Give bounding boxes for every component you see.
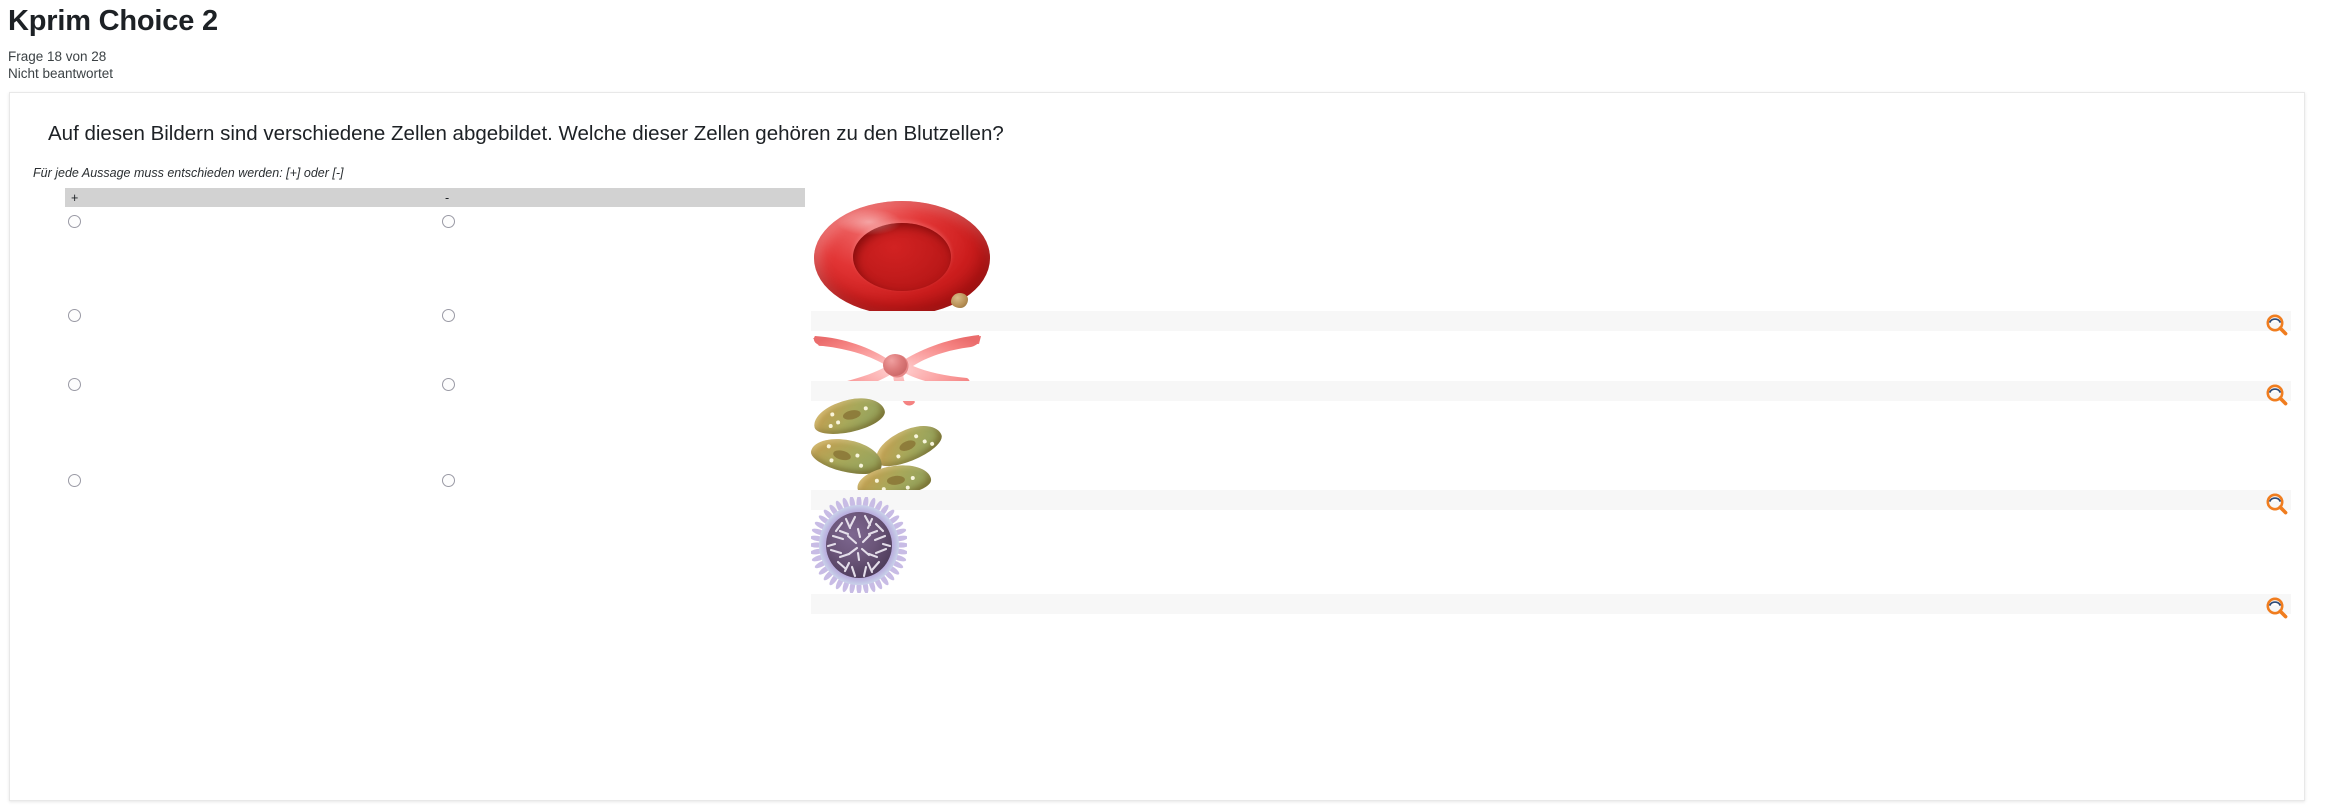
granulocyte-cell	[810, 393, 887, 439]
granule-dot	[830, 412, 835, 417]
granule-dot	[914, 434, 919, 439]
question-card: Auf diesen Bildern sind verschiedene Zel…	[9, 92, 2305, 801]
granule-dot	[911, 476, 915, 480]
granule-dot	[855, 453, 860, 458]
media-column	[811, 188, 2291, 600]
page-title: Kprim Choice 2	[8, 0, 1208, 38]
answer-grid-rows	[65, 207, 805, 562]
answer-grid: + -	[65, 188, 805, 562]
question-text: Auf diesen Bildern sind verschiedene Zel…	[48, 121, 1004, 147]
question-page: Kprim Choice 2 Frage 18 von 28 Nicht bea…	[0, 0, 2335, 812]
table-row	[65, 301, 805, 370]
granule-dot	[828, 424, 833, 429]
radio-row-1-minus[interactable]	[442, 215, 455, 228]
media-item-thrombocyte	[811, 324, 2291, 394]
answer-grid-header: + -	[65, 188, 805, 207]
lymphocyte-image	[811, 497, 907, 593]
question-instruction: Für jede Aussage muss entschieden werden…	[33, 166, 343, 180]
radio-row-3-plus[interactable]	[68, 378, 81, 391]
radio-row-4-plus[interactable]	[68, 474, 81, 487]
media-item-lymphocyte	[811, 490, 2291, 600]
granulocyte-nucleus	[832, 449, 852, 462]
magnifier-icon[interactable]	[2265, 596, 2289, 620]
radio-row-1-plus[interactable]	[68, 215, 81, 228]
question-progress: Frage 18 von 28	[8, 48, 1208, 65]
granule-dot	[836, 420, 841, 425]
granule-dot	[875, 479, 879, 483]
erythrocyte-highlight	[837, 209, 901, 235]
column-header-minus: -	[445, 190, 449, 206]
granule-dot	[930, 441, 935, 446]
table-row	[65, 370, 805, 466]
media-item-erythrocyte	[811, 188, 2291, 324]
erythrocyte-image	[811, 197, 993, 319]
column-header-plus: +	[71, 190, 78, 206]
cell-fragment	[951, 293, 968, 308]
granule-dot	[826, 444, 831, 449]
thrombocyte-nucleus	[883, 354, 907, 376]
question-meta: Frage 18 von 28 Nicht beantwortet	[8, 48, 1208, 82]
table-row	[65, 466, 805, 562]
granulocyte-nucleus	[887, 475, 906, 486]
radio-row-3-minus[interactable]	[442, 378, 455, 391]
radio-row-4-minus[interactable]	[442, 474, 455, 487]
granule-dot	[896, 454, 901, 459]
granule-dot	[863, 406, 868, 411]
table-row	[65, 207, 805, 301]
granulocyte-nucleus	[842, 409, 861, 422]
caption-bar	[811, 594, 2291, 614]
question-header: Kprim Choice 2 Frage 18 von 28 Nicht bea…	[8, 0, 1208, 82]
question-status: Nicht beantwortet	[8, 65, 1208, 82]
granulocyte-nucleus	[898, 438, 917, 453]
granule-dot	[829, 458, 834, 463]
radio-row-2-minus[interactable]	[442, 309, 455, 322]
media-item-granulocyte	[811, 394, 2291, 490]
lymphocyte-shape	[811, 497, 907, 593]
granule-dot	[859, 463, 864, 468]
radio-row-2-plus[interactable]	[68, 309, 81, 322]
granule-dot	[922, 439, 927, 444]
